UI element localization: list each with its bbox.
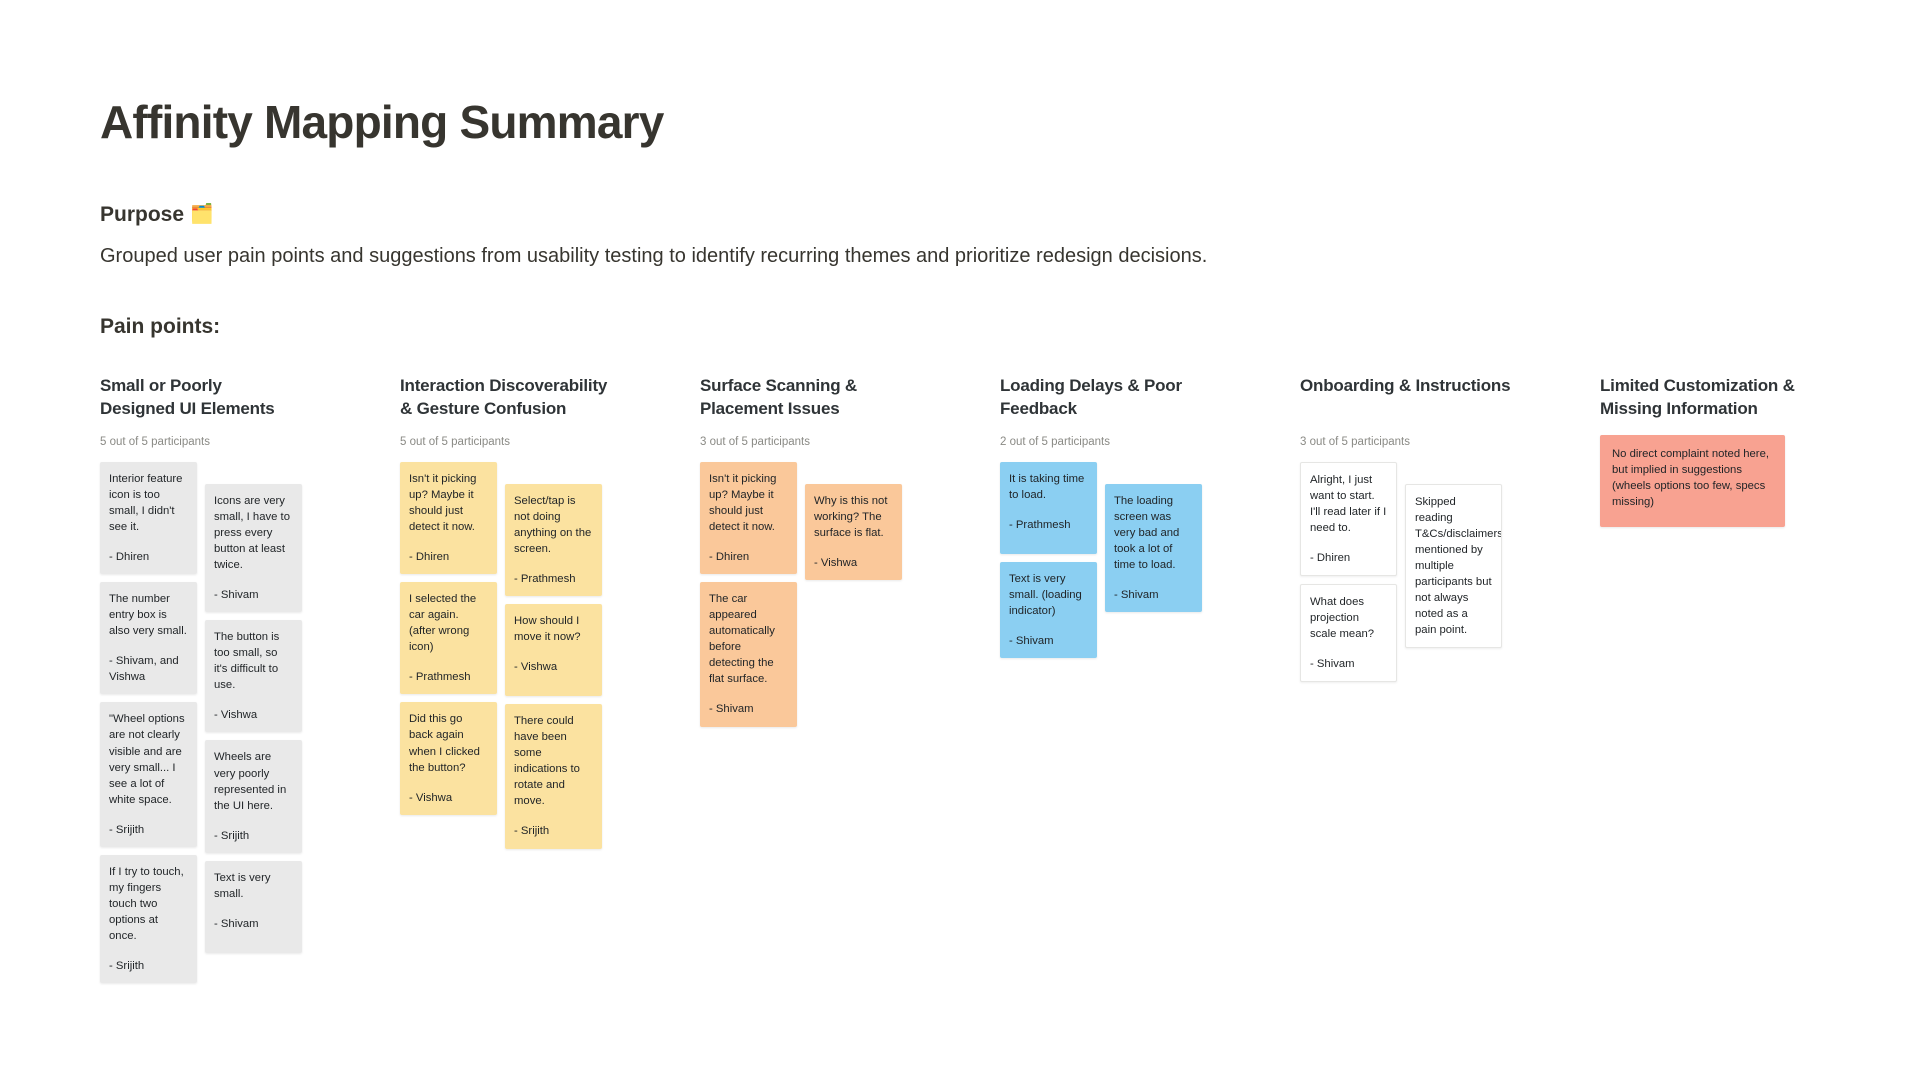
sticky-note-text: Isn't it picking up? Maybe it should jus… xyxy=(409,471,488,535)
sticky-note-group: Interior feature icon is too small, I di… xyxy=(100,462,400,983)
sticky-note[interactable]: Isn't it picking up? Maybe it should jus… xyxy=(700,462,797,574)
sticky-note-group: No direct complaint noted here, but impl… xyxy=(1600,435,1900,527)
card-index-dividers-icon: 🗂️ xyxy=(190,205,214,224)
sticky-note[interactable]: The loading screen was very bad and took… xyxy=(1105,484,1202,612)
note-track-left: Alright, I just want to start. I'll read… xyxy=(1300,462,1397,682)
pain-points-heading: Pain points: xyxy=(100,271,1920,339)
note-track-left: Interior feature icon is too small, I di… xyxy=(100,462,197,983)
sticky-note-text: The number entry box is also very small. xyxy=(109,591,188,639)
sticky-note-author: - Srijith xyxy=(109,958,188,974)
category-column: Onboarding & Instructions3 out of 5 part… xyxy=(1300,375,1600,682)
sticky-note-text: The loading screen was very bad and took… xyxy=(1114,493,1193,573)
category-title: Interaction Discoverability & Gesture Co… xyxy=(400,375,700,421)
note-track-right: The loading screen was very bad and took… xyxy=(1105,484,1202,612)
sticky-note[interactable]: Isn't it picking up? Maybe it should jus… xyxy=(400,462,497,574)
sticky-note[interactable]: Why is this not working? The surface is … xyxy=(805,484,902,580)
sticky-note[interactable]: "Wheel options are not clearly visible a… xyxy=(100,702,197,846)
sticky-note[interactable]: Did this go back again when I clicked th… xyxy=(400,702,497,814)
sticky-note-author: - Prathmesh xyxy=(514,571,593,587)
note-track-left: No direct complaint noted here, but impl… xyxy=(1600,435,1745,527)
category-title: Onboarding & Instructions xyxy=(1300,375,1600,421)
purpose-heading-label: Purpose xyxy=(100,201,184,228)
sticky-note-group: Isn't it picking up? Maybe it should jus… xyxy=(700,462,1000,726)
sticky-note-author: - Srijith xyxy=(214,828,293,844)
sticky-note-text: I selected the car again. (after wrong i… xyxy=(409,591,488,655)
participant-count: 5 out of 5 participants xyxy=(100,435,400,450)
document-page: Affinity Mapping Summary Purpose 🗂️ Grou… xyxy=(0,0,1920,1080)
sticky-note-group: Alright, I just want to start. I'll read… xyxy=(1300,462,1600,682)
sticky-note-author: - Dhiren xyxy=(709,549,788,565)
sticky-note-author: - Shivam xyxy=(214,916,293,932)
sticky-note-group: Isn't it picking up? Maybe it should jus… xyxy=(400,462,700,848)
sticky-note[interactable]: Text is very small. (loading indicator)-… xyxy=(1000,562,1097,658)
sticky-note[interactable]: The button is too small, so it's difficu… xyxy=(205,620,302,732)
category-title: Limited Customization & Missing Informat… xyxy=(1600,375,1900,421)
sticky-note[interactable]: No direct complaint noted here, but impl… xyxy=(1600,435,1785,527)
sticky-note-author: - Shivam xyxy=(214,587,293,603)
sticky-note-text: Did this go back again when I clicked th… xyxy=(409,711,488,775)
sticky-note[interactable]: If I try to touch, my fingers touch two … xyxy=(100,855,197,983)
sticky-note-author: - Vishwa xyxy=(814,555,893,571)
sticky-note-text: Alright, I just want to start. I'll read… xyxy=(1310,472,1387,536)
sticky-note-text: It is taking time to load. xyxy=(1009,471,1088,503)
sticky-note-text: There could have been some indications t… xyxy=(514,713,593,809)
note-track-right: Skipped reading T&Cs/disclaimers: mentio… xyxy=(1405,484,1502,648)
sticky-note[interactable]: The number entry box is also very small.… xyxy=(100,582,197,694)
sticky-note[interactable]: Interior feature icon is too small, I di… xyxy=(100,462,197,574)
sticky-note[interactable]: Select/tap is not doing anything on the … xyxy=(505,484,602,596)
sticky-note-text: Isn't it picking up? Maybe it should jus… xyxy=(709,471,788,535)
note-track-left: Isn't it picking up? Maybe it should jus… xyxy=(700,462,797,726)
participant-count: 3 out of 5 participants xyxy=(700,435,1000,450)
sticky-note-text: The car appeared automatically before de… xyxy=(709,591,788,687)
sticky-note-author: - Dhiren xyxy=(409,549,488,565)
sticky-note[interactable]: Alright, I just want to start. I'll read… xyxy=(1300,462,1397,576)
sticky-note[interactable]: Skipped reading T&Cs/disclaimers: mentio… xyxy=(1405,484,1502,648)
sticky-note[interactable]: The car appeared automatically before de… xyxy=(700,582,797,726)
sticky-note-author: - Vishwa xyxy=(214,707,293,723)
sticky-note[interactable]: Text is very small.- Shivam xyxy=(205,861,302,953)
sticky-note-author: - Srijith xyxy=(109,822,188,838)
sticky-note-author: - Dhiren xyxy=(1310,550,1387,566)
sticky-note-author: - Shivam xyxy=(1009,633,1088,649)
sticky-note-text: Icons are very small, I have to press ev… xyxy=(214,493,293,573)
category-column: Surface Scanning & Placement Issues3 out… xyxy=(700,375,1000,726)
sticky-note-text: Wheels are very poorly represented in th… xyxy=(214,749,293,813)
category-column: Loading Delays & Poor Feedback2 out of 5… xyxy=(1000,375,1300,658)
sticky-note-author: - Prathmesh xyxy=(1009,517,1088,533)
category-column: Limited Customization & Missing Informat… xyxy=(1600,375,1900,527)
note-track-right: Icons are very small, I have to press ev… xyxy=(205,484,302,953)
sticky-note-text: Select/tap is not doing anything on the … xyxy=(514,493,593,557)
participant-count: 3 out of 5 participants xyxy=(1300,435,1600,450)
purpose-description: Grouped user pain points and suggestions… xyxy=(100,228,1920,271)
sticky-note-text: What does projection scale mean? xyxy=(1310,594,1387,642)
category-title: Small or Poorly Designed UI Elements xyxy=(100,375,400,421)
purpose-heading: Purpose 🗂️ xyxy=(100,149,1920,228)
sticky-note-text: Why is this not working? The surface is … xyxy=(814,493,893,541)
sticky-note-text: Text is very small. (loading indicator) xyxy=(1009,571,1088,619)
sticky-note[interactable]: What does projection scale mean?- Shivam xyxy=(1300,584,1397,682)
sticky-note-group: It is taking time to load.- PrathmeshTex… xyxy=(1000,462,1300,658)
sticky-note[interactable]: Wheels are very poorly represented in th… xyxy=(205,740,302,852)
sticky-note-author: - Prathmesh xyxy=(409,669,488,685)
sticky-note[interactable]: I selected the car again. (after wrong i… xyxy=(400,582,497,694)
page-title: Affinity Mapping Summary xyxy=(100,0,1920,149)
participant-count: 2 out of 5 participants xyxy=(1000,435,1300,450)
sticky-note-author: - Shivam, and Vishwa xyxy=(109,653,188,685)
sticky-note[interactable]: Icons are very small, I have to press ev… xyxy=(205,484,302,612)
sticky-note-author: - Shivam xyxy=(1310,656,1387,672)
sticky-note-author: - Srijith xyxy=(514,823,593,839)
sticky-note[interactable]: How should I move it now?- Vishwa xyxy=(505,604,602,696)
category-column: Interaction Discoverability & Gesture Co… xyxy=(400,375,700,848)
sticky-note-text: No direct complaint noted here, but impl… xyxy=(1612,446,1773,510)
sticky-note-text: Skipped reading T&Cs/disclaimers: mentio… xyxy=(1415,494,1492,638)
sticky-note-text: Interior feature icon is too small, I di… xyxy=(109,471,188,535)
sticky-note-author: - Vishwa xyxy=(409,790,488,806)
category-title: Surface Scanning & Placement Issues xyxy=(700,375,1000,421)
category-column: Small or Poorly Designed UI Elements5 ou… xyxy=(100,375,400,983)
sticky-note-author: - Dhiren xyxy=(109,549,188,565)
participant-count: 5 out of 5 participants xyxy=(400,435,700,450)
sticky-note-author: - Shivam xyxy=(709,701,788,717)
note-track-left: It is taking time to load.- PrathmeshTex… xyxy=(1000,462,1097,658)
sticky-note-author: - Shivam xyxy=(1114,587,1193,603)
sticky-note-text: "Wheel options are not clearly visible a… xyxy=(109,711,188,807)
sticky-note[interactable]: There could have been some indications t… xyxy=(505,704,602,848)
note-track-right: Select/tap is not doing anything on the … xyxy=(505,484,602,848)
category-title: Loading Delays & Poor Feedback xyxy=(1000,375,1300,421)
sticky-note-text: How should I move it now? xyxy=(514,613,593,645)
sticky-note-text: Text is very small. xyxy=(214,870,293,902)
note-track-right: Why is this not working? The surface is … xyxy=(805,484,902,580)
note-track-left: Isn't it picking up? Maybe it should jus… xyxy=(400,462,497,814)
sticky-note[interactable]: It is taking time to load.- Prathmesh xyxy=(1000,462,1097,554)
affinity-board: Small or Poorly Designed UI Elements5 ou… xyxy=(100,375,1920,983)
sticky-note-text: If I try to touch, my fingers touch two … xyxy=(109,864,188,944)
sticky-note-author: - Vishwa xyxy=(514,659,593,675)
sticky-note-text: The button is too small, so it's difficu… xyxy=(214,629,293,693)
